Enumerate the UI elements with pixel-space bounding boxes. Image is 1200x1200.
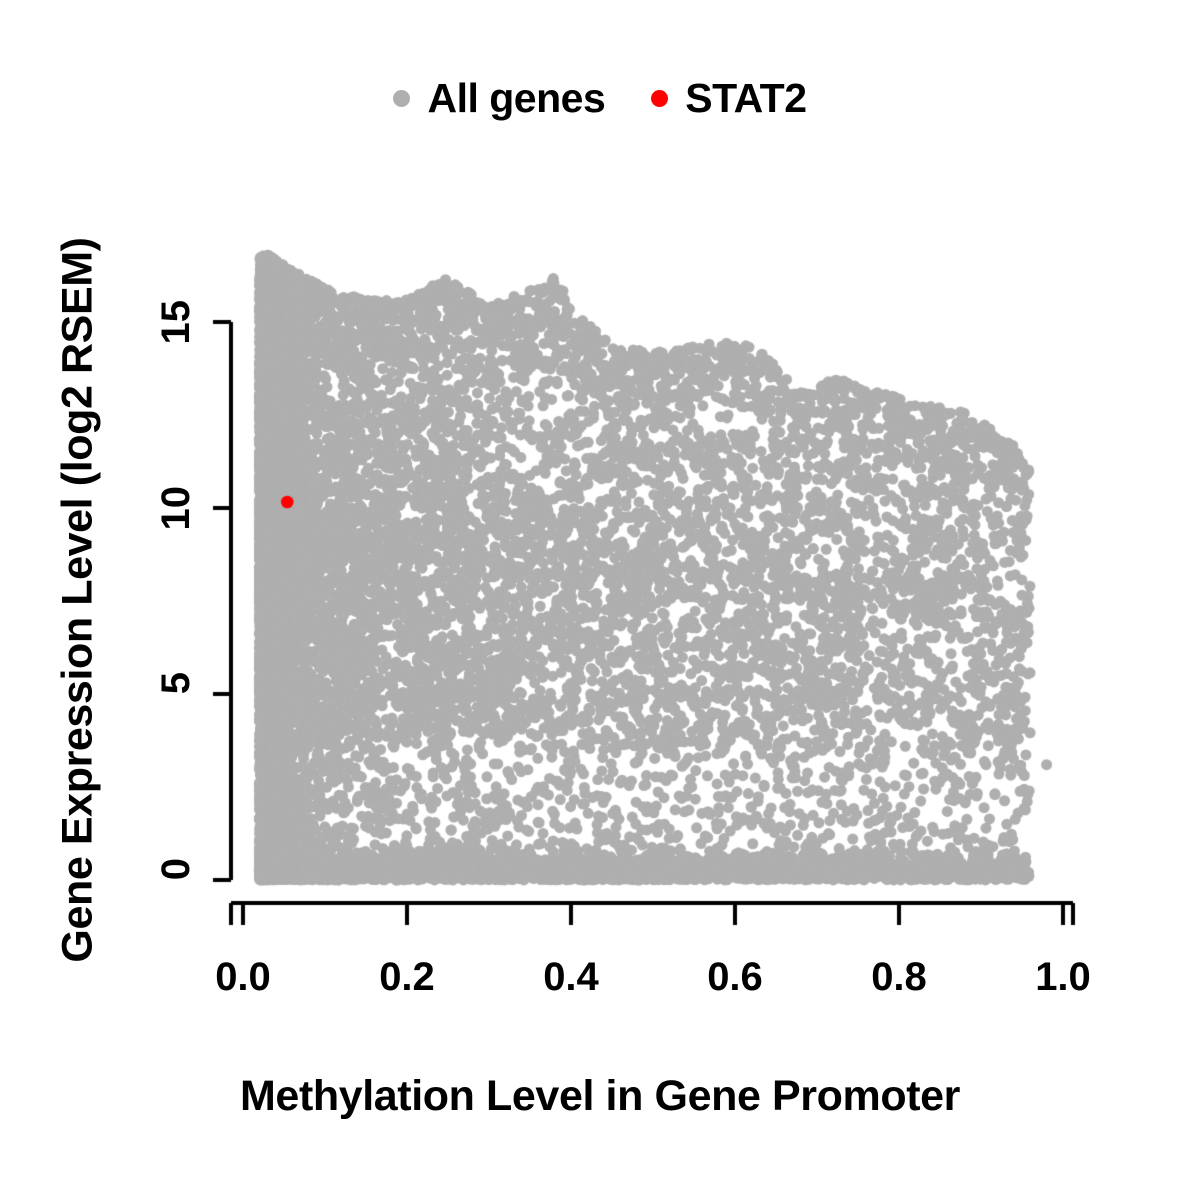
legend-label-all-genes: All genes bbox=[427, 78, 605, 119]
y-axis-tick-label: 5 bbox=[156, 672, 196, 872]
x-axis-tick-label: 0.2 bbox=[337, 957, 477, 997]
legend-label-stat2: STAT2 bbox=[685, 78, 806, 119]
x-axis-tick-label: 1.0 bbox=[993, 957, 1133, 997]
x-axis-tick-label: 0.0 bbox=[173, 957, 313, 997]
scatter-plot-figure: All genes STAT2 051015 0.00.20.40.60.81.… bbox=[0, 0, 1200, 1200]
x-axis-title: Methylation Level in Gene Promoter bbox=[0, 1072, 1200, 1121]
y-axis-tick-label: 15 bbox=[156, 300, 196, 500]
legend-marker-circle-icon bbox=[651, 90, 668, 107]
plot-legend: All genes STAT2 bbox=[0, 78, 1200, 119]
x-axis-tick-label: 0.4 bbox=[501, 957, 641, 997]
x-axis-tick-label: 0.8 bbox=[829, 957, 969, 997]
legend-entry-stat2[interactable]: STAT2 bbox=[651, 78, 806, 119]
legend-marker-circle-icon bbox=[393, 90, 410, 107]
legend-entry-all-genes[interactable]: All genes bbox=[393, 78, 605, 119]
x-axis-tick-label: 0.6 bbox=[665, 957, 805, 997]
y-axis-tick-label: 10 bbox=[156, 486, 196, 686]
